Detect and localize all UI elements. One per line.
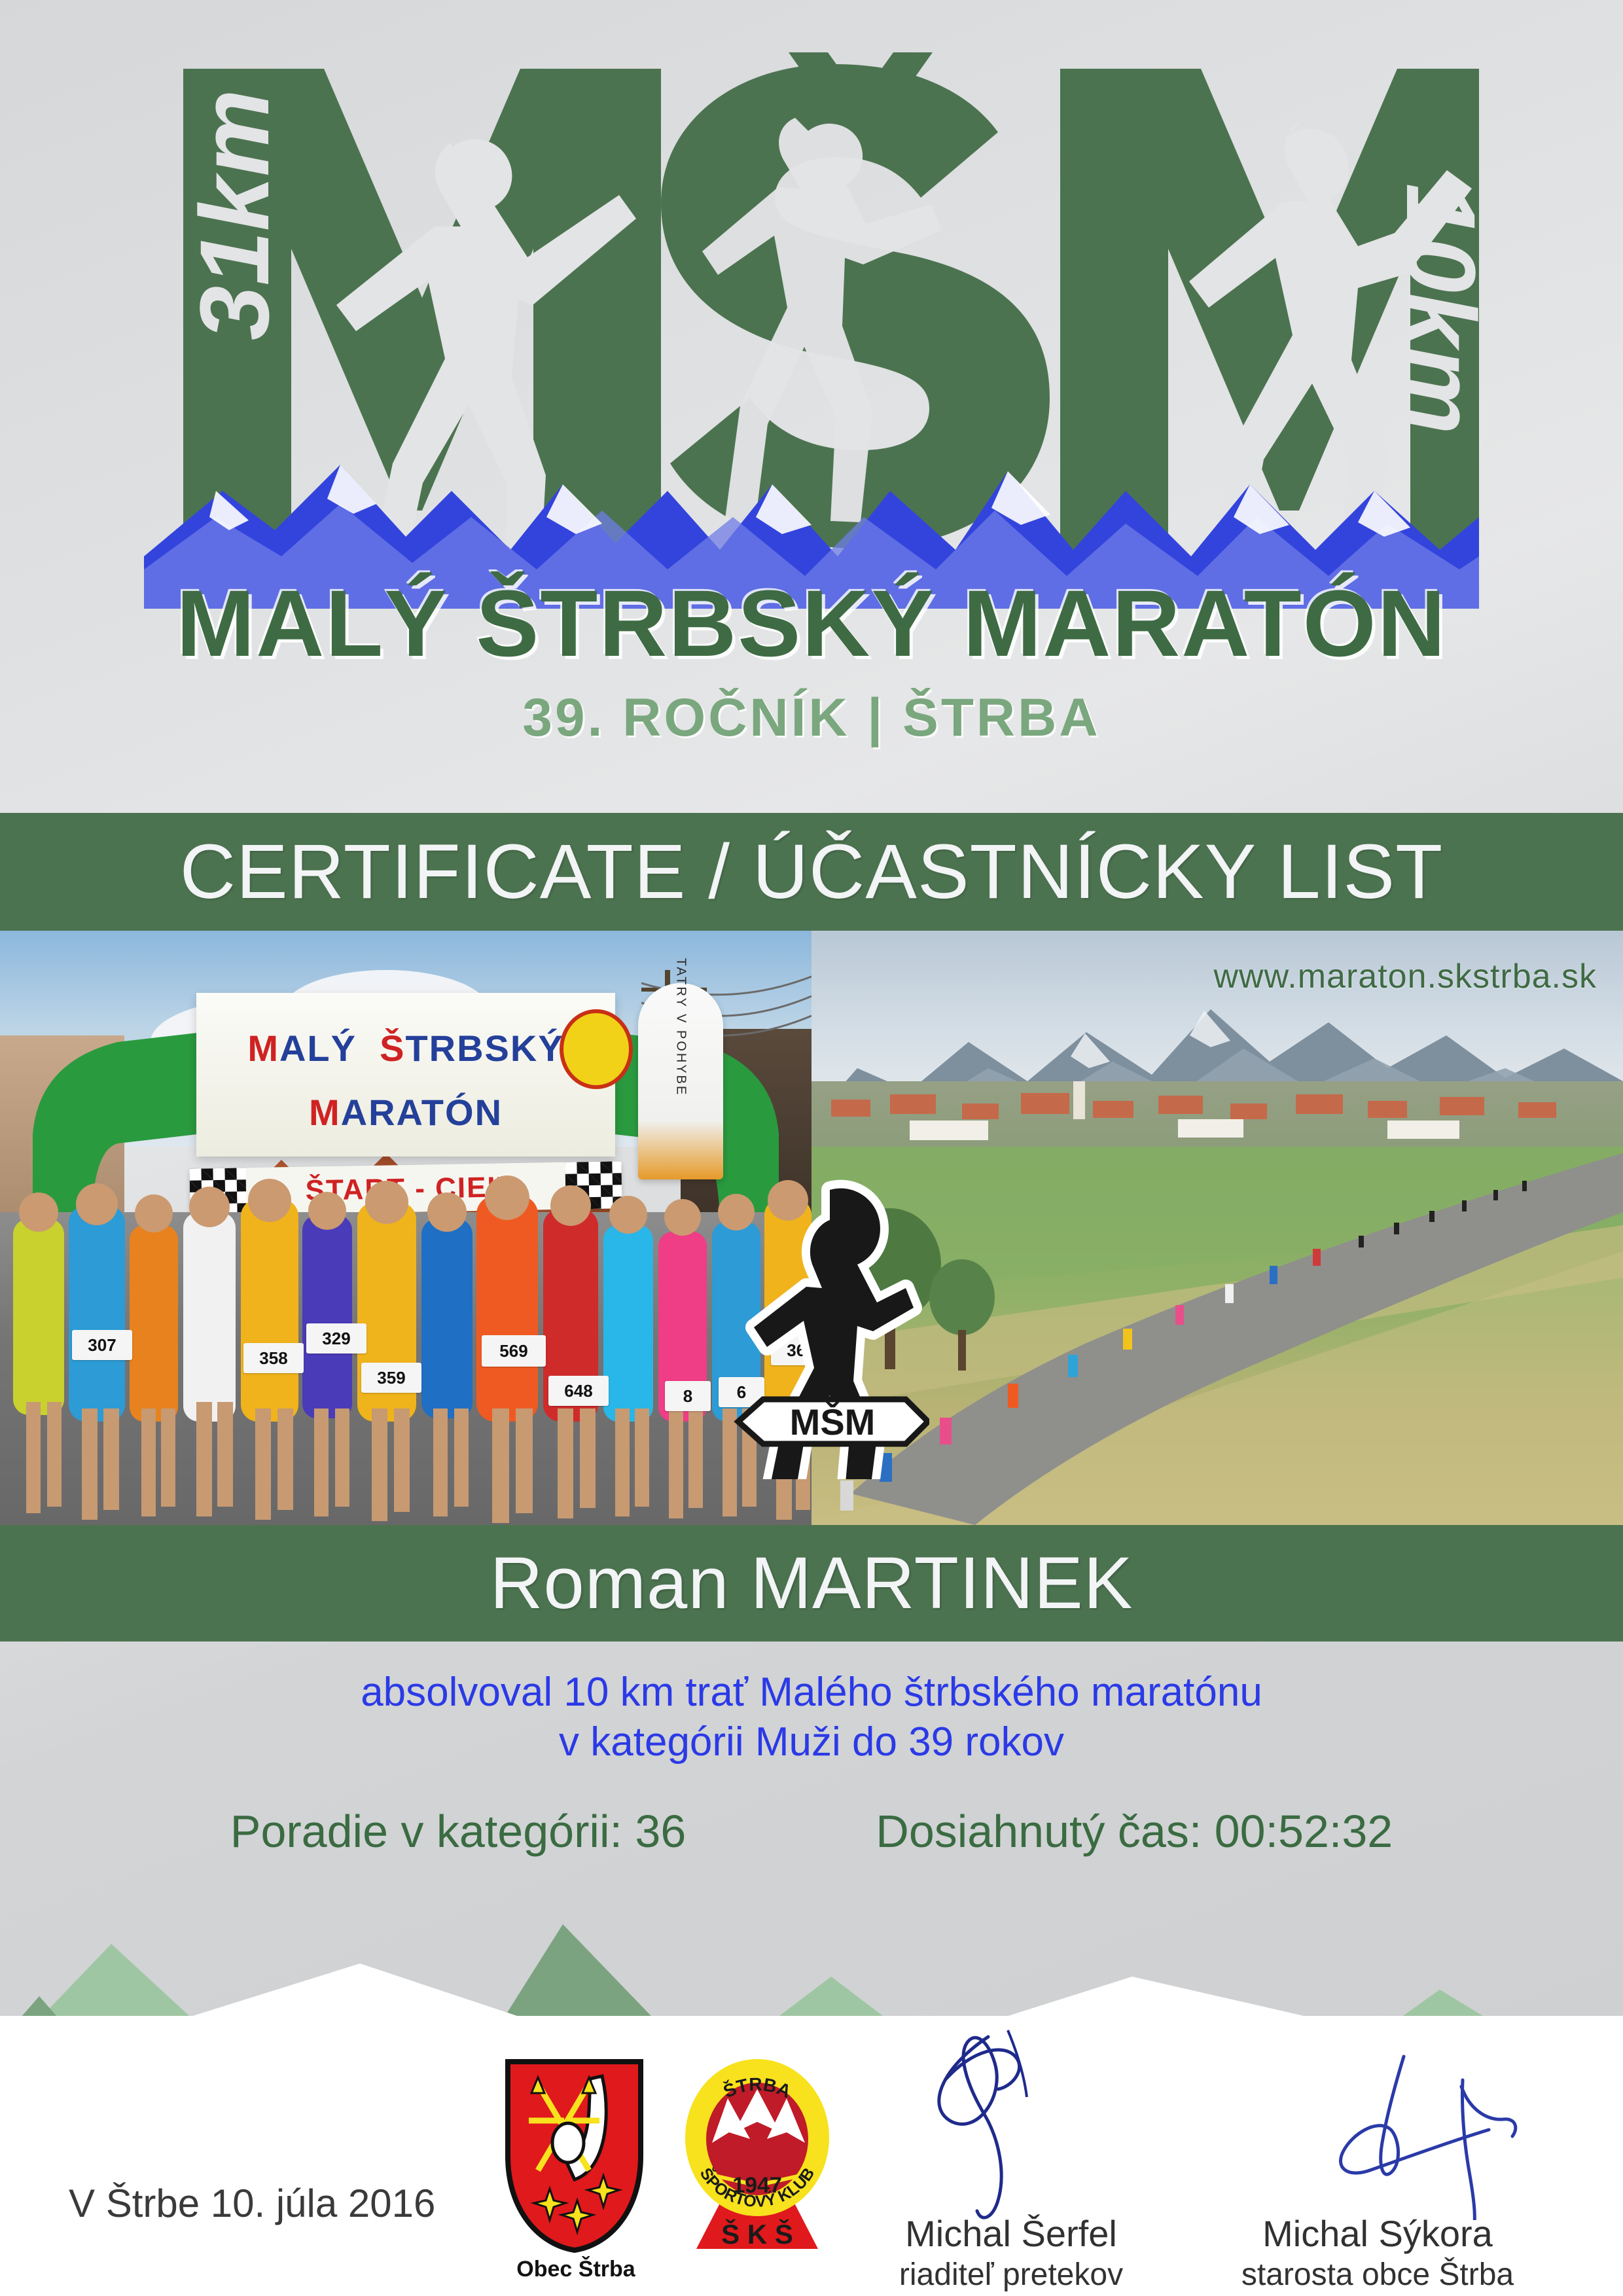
sponsor-flag: TATRY V POHYBE <box>638 983 723 1179</box>
sks-club-crest-icon: 1947 ŠTRBA ŠPORTOVÝ KLUB Š K Š <box>681 2053 834 2259</box>
certificate-band: CERTIFICATE / ÚČASTNÍCKY LIST <box>0 813 1623 931</box>
arch-banner-line1: MALÝ ŠTRBSKÝ <box>196 1027 615 1069</box>
results-row: Poradie v kategórii: 36 Dosiahnutý čas: … <box>0 1805 1623 1857</box>
achievement-line-2: v kategórii Muži do 39 rokov <box>0 1717 1623 1767</box>
certificate-title: CERTIFICATE / ÚČASTNÍCKY LIST <box>0 813 1623 931</box>
signatory-role: riaditeľ pretekov <box>841 2257 1181 2293</box>
bib-number: 569 <box>482 1335 546 1367</box>
event-subtitle: 39. ROČNÍK | ŠTRBA <box>144 687 1479 749</box>
participant-name-band: Roman MARTINEK <box>0 1525 1623 1641</box>
participant-name: Roman MARTINEK <box>0 1525 1623 1641</box>
sponsor-flag-text: TATRY V POHYBE <box>673 958 688 1097</box>
website-url: www.maraton.skstrba.sk <box>1214 957 1597 996</box>
bib-number: 359 <box>361 1363 421 1393</box>
event-title: MALÝ ŠTRBSKÝ MARATÓN <box>144 569 1479 678</box>
svg-text:MŠM: MŠM <box>790 1401 876 1443</box>
bib-number: 358 <box>243 1343 304 1373</box>
footer: V Štrbe 10. júla 2016 <box>0 2016 1623 2296</box>
bib-number: 307 <box>72 1330 132 1360</box>
signatory-role: starosta obce Štrba <box>1207 2257 1548 2293</box>
msm-badge-graphic: MŠM <box>733 1178 929 1479</box>
signature-mark <box>1207 2024 1548 2220</box>
arch-banner: MALÝ ŠTRBSKÝ MARATÓN <box>196 993 615 1157</box>
signatory-name: Michal Šerfel <box>841 2212 1181 2255</box>
bib-number: 648 <box>548 1376 609 1406</box>
runner-heads <box>0 1166 811 1245</box>
svg-text:31km: 31km <box>179 89 289 340</box>
logo-distance-left: 31km <box>179 89 289 340</box>
signatory-name: Michal Sýkora <box>1207 2212 1548 2255</box>
obec-strba-crest-icon <box>504 2058 645 2254</box>
issue-date: V Štrbe 10. júla 2016 <box>69 2181 435 2226</box>
arch-banner-line2: MARATÓN <box>196 1091 615 1134</box>
msm-badge-wordmark: MŠM <box>738 1399 928 1444</box>
svg-text:10km: 10km <box>1386 183 1479 435</box>
svg-text:Š K Š: Š K Š <box>721 2218 793 2250</box>
category-rank: Poradie v kategórii: 36 <box>230 1805 687 1857</box>
logo-distance-right: 10km <box>1386 183 1479 435</box>
achievement-line-1: absolvoval 10 km trať Malého štrbského m… <box>0 1668 1623 1717</box>
header-logo-area: 31km 10km MALÝ ŠTRBSKÝ MARATÓN 39. ROČNÍ… <box>0 0 1623 813</box>
signature-mark <box>841 2024 1181 2220</box>
club-flag-icon <box>560 1009 633 1089</box>
msm-runner-badge: MŠM <box>733 1178 929 1479</box>
msm-logo: 31km 10km MALÝ ŠTRBSKÝ MARATÓN 39. ROČNÍ… <box>144 33 1479 766</box>
bib-number: 8 <box>665 1381 711 1411</box>
finish-time: Dosiahnutý čas: 00:52:32 <box>876 1805 1393 1857</box>
photo-race-start: MALÝ ŠTRBSKÝ MARATÓN ŠTART - CIEĽ TATRY … <box>0 931 811 1525</box>
bib-number: 329 <box>306 1323 366 1354</box>
certificate-page: 31km 10km MALÝ ŠTRBSKÝ MARATÓN 39. ROČNÍ… <box>0 0 1623 2296</box>
obec-strba-label: Obec Štrba <box>497 2257 654 2282</box>
participant-details: absolvoval 10 km trať Malého štrbského m… <box>0 1641 1623 1916</box>
photo-valley-route: www.maraton.skstrba.sk <box>811 931 1623 1525</box>
